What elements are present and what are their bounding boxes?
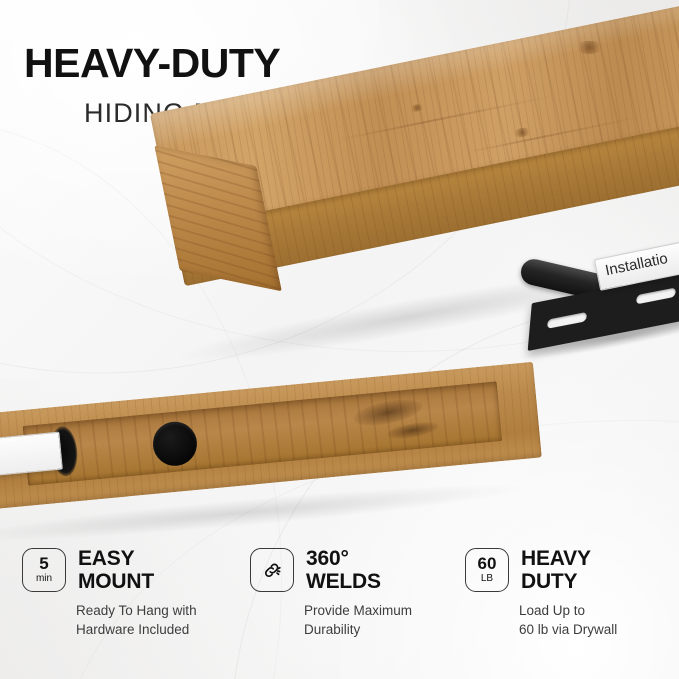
weight-badge-icon: 60 LB [465,548,509,592]
page-subtitle: HIDING BRACKET/ACCESSORY [84,100,516,127]
feature-header: 60 LB HEAVY DUTY [465,548,657,593]
feature-heavy-duty: 60 LB HEAVY DUTY Load Up to 60 lb via Dr… [465,548,657,639]
feature-subtitle: Ready To Hang with Hardware Included [76,602,250,638]
feature-subtitle-line1: Provide Maximum [304,602,465,620]
feature-title-line2: MOUNT [78,571,154,594]
feature-row: 5 min EASY MOUNT Ready To Hang with Hard… [0,548,679,639]
feature-title-line2: DUTY [521,571,591,594]
feature-subtitle-line1: Load Up to [519,602,657,620]
background-shade-top-right [379,0,679,300]
product-marketing-image: HEAVY-DUTY HIDING BRACKET/ACCESSORY Inst… [0,0,679,679]
feature-title-line1: EASY [78,548,154,571]
timer-badge-icon: 5 min [22,548,66,592]
feature-title-line1: HEAVY [521,548,591,571]
badge-secondary-text: min [36,572,52,585]
feature-title-line2: WELDS [306,571,381,594]
feature-subtitle-line1: Ready To Hang with [76,602,250,620]
feature-title-line1: 360° [306,548,381,571]
feature-subtitle-line2: Durability [304,621,465,639]
badge-secondary-text: LB [481,572,493,585]
feature-subtitle-line2: 60 lb via Drywall [519,621,657,639]
page-title: HEAVY-DUTY [24,43,280,84]
feature-title: HEAVY DUTY [521,548,591,593]
feature-subtitle: Provide Maximum Durability [304,602,465,638]
feature-subtitle-line2: Hardware Included [76,621,250,639]
feature-title: EASY MOUNT [78,548,154,593]
feature-subtitle: Load Up to 60 lb via Drywall [519,602,657,638]
feature-title: 360° WELDS [306,548,381,593]
feature-360-welds: 360° WELDS Provide Maximum Durability [250,548,465,639]
badge-primary-text: 60 [478,555,497,572]
badge-primary-text: 5 [39,555,48,572]
feature-header: 5 min EASY MOUNT [22,548,250,593]
feature-easy-mount: 5 min EASY MOUNT Ready To Hang with Hard… [22,548,250,639]
feature-header: 360° WELDS [250,548,465,593]
chain-link-weld-icon [250,548,294,592]
